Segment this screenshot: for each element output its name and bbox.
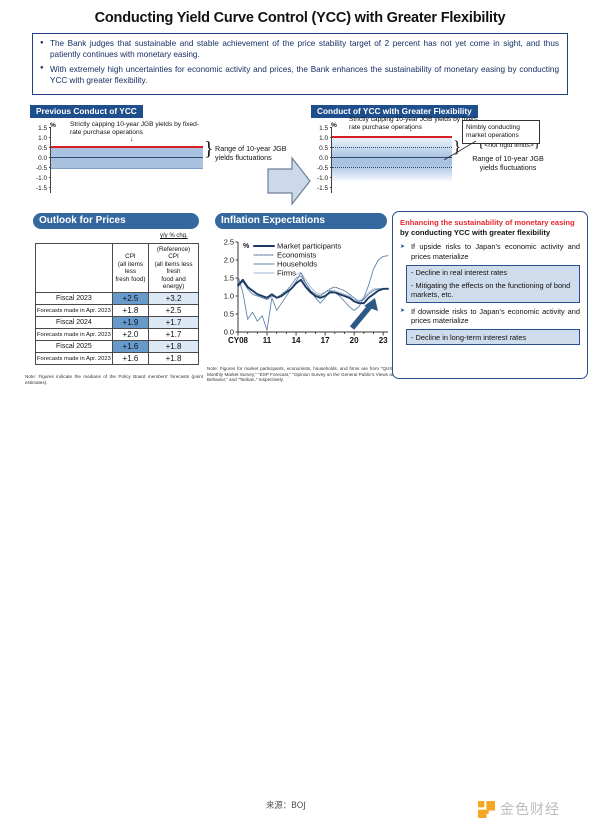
ycc-left-ytick-0.0: 0.0 [30, 155, 47, 162]
cell-ref-fiscal-2023: +3.2 [149, 293, 199, 305]
upside-outcome-box: - Decline in real interest rates - Mitig… [406, 265, 580, 303]
upside-outcome-1: - Decline in real interest rates [411, 268, 575, 277]
footer-bar: 来源：BOJ 金色财经 [0, 396, 600, 433]
ycc-right-zero-line [332, 157, 452, 158]
cell-ref-forecast-2023: +2.5 [149, 305, 199, 317]
ycc-right-ytick-0.5: 0.5 [311, 145, 328, 152]
downside-risk-item: If downside risks to Japan's economic ac… [400, 307, 580, 326]
chart-flexible-ycc: 1.5 1.0 0.5 0.0 -0.5 -1.0 -1.5 % Strictl… [311, 122, 596, 208]
ycc-left-ytick--1.0: -1.0 [30, 175, 47, 182]
summary-bullet-box: The Bank judges that sustainable and sta… [32, 33, 568, 95]
ycc-right-ref-lower-line [332, 167, 452, 168]
downside-outcome-box: - Decline in long-term interest rates [406, 329, 580, 345]
transition-arrow-icon [266, 155, 312, 207]
row-label-fiscal-2023: Fiscal 2023 [36, 293, 113, 305]
table-row: Fiscal 2025 +1.6 +1.8 [36, 341, 199, 353]
inflation-chart-svg: 0.00.51.01.52.02.5CY081114172023%Market … [212, 236, 392, 362]
outlook-unit-note: y/y % chg. [160, 233, 188, 239]
row-label-fiscal-2024: Fiscal 2024 [36, 317, 113, 329]
source-label: 来源：BOJ [266, 799, 306, 811]
ycc-right-ytick-1.0: 1.0 [311, 135, 328, 142]
cell-ref-forecast-2025: +1.8 [149, 353, 199, 365]
policy-implications-panel: Enhancing the sustainability of monetary… [392, 211, 588, 379]
banner-previous-ycc: Previous Conduct of YCC [30, 105, 143, 118]
ycc-left-cap-caption: Strictly capping 10-year JGB yields by f… [70, 121, 200, 138]
table-row: Fiscal 2024 +1.9 +1.7 [36, 317, 199, 329]
col-header-blank [36, 244, 113, 293]
ycc-left-ytick-0.5: 0.5 [30, 145, 47, 152]
ycc-left-ytick--0.5: -0.5 [30, 165, 47, 172]
ycc-right-yield-band [332, 137, 452, 182]
svg-text:1.0: 1.0 [224, 292, 234, 301]
panel-heading: Enhancing the sustainability of monetary… [400, 218, 580, 238]
table-row: Forecasts made in Apr. 2023 +1.6 +1.8 [36, 353, 199, 365]
slide-canvas: Conducting Yield Curve Control (YCC) wit… [0, 0, 600, 396]
cell-ref-fiscal-2025: +1.8 [149, 341, 199, 353]
site-logo: 金色财经 [478, 799, 560, 819]
col-header-cpi-l2: (all items less [118, 261, 143, 275]
banner-outlook-for-prices: Outlook for Prices [33, 213, 199, 229]
svg-text:Economists: Economists [277, 251, 316, 260]
ycc-right-ytick-1.5: 1.5 [311, 125, 328, 132]
jinse-logo-icon [478, 801, 495, 818]
row-label-forecast-2025: Forecasts made in Apr. 2023 [36, 353, 113, 365]
svg-text:1.5: 1.5 [224, 274, 234, 283]
table-row: Fiscal 2023 +2.5 +3.2 [36, 293, 199, 305]
col-header-ref-l1: (Reference) [157, 246, 190, 253]
svg-text:CY08: CY08 [228, 336, 249, 345]
row-label-forecast-2024: Forecasts made in Apr. 2023 [36, 329, 113, 341]
col-header-cpi: CPI (all items less fresh food) [112, 244, 148, 293]
cell-ref-fiscal-2024: +1.7 [149, 317, 199, 329]
summary-bullet-2: With extremely high uncertainties for ec… [40, 64, 559, 87]
ycc-left-cap-arrow: ↓ [130, 136, 134, 143]
cell-ref-forecast-2024: +1.7 [149, 329, 199, 341]
col-header-cpi-l3: fresh food) [115, 276, 145, 283]
svg-text:20: 20 [350, 336, 359, 345]
row-label-forecast-2023: Forecasts made in Apr. 2023 [36, 305, 113, 317]
cell-cpi-fiscal-2025: +1.6 [112, 341, 148, 353]
svg-text:17: 17 [321, 336, 330, 345]
svg-text:Firms: Firms [277, 269, 296, 278]
cell-cpi-forecast-2023: +1.8 [112, 305, 148, 317]
ycc-left-cap-line [51, 146, 203, 148]
page-title: Conducting Yield Curve Control (YCC) wit… [0, 10, 600, 26]
svg-text:%: % [243, 243, 250, 250]
ycc-left-zero-line [51, 157, 203, 158]
panel-heading-rest: by conducting YCC with greater flexibili… [400, 228, 550, 237]
svg-text:2.0: 2.0 [224, 256, 234, 265]
col-header-cpi-ref: (Reference) CPI (all items less fresh fo… [149, 244, 199, 293]
svg-text:14: 14 [292, 336, 301, 345]
svg-text:23: 23 [379, 336, 388, 345]
svg-text:Households: Households [277, 260, 317, 269]
cell-cpi-forecast-2025: +1.6 [112, 353, 148, 365]
col-header-cpi-l1: CPI [125, 253, 136, 260]
ycc-left-ytick--1.5: -1.5 [30, 185, 47, 192]
chart-inflation-expectations: 0.00.51.01.52.02.5CY081114172023%Market … [212, 236, 392, 362]
ycc-left-range-brace: } [204, 139, 214, 159]
outlook-table: CPI (all items less fresh food) (Referen… [35, 243, 199, 365]
col-header-ref-l4: food and energy) [161, 276, 186, 290]
ycc-right-cap-arrow: ↓ [409, 126, 413, 133]
ycc-left-ytick-1.5: 1.5 [30, 125, 47, 132]
row-label-fiscal-2025: Fiscal 2025 [36, 341, 113, 353]
inflation-chart-note: Note: Figures for market participants, e… [207, 366, 397, 383]
ycc-left-ytick-1.0: 1.0 [30, 135, 47, 142]
ycc-right-ref-upper-line [332, 147, 452, 148]
ycc-right-ytick--1.5: -1.5 [311, 185, 328, 192]
ycc-right-ytick--1.0: -1.0 [311, 175, 328, 182]
outlook-table-note: Note: Figures indicate the medians of th… [25, 374, 203, 385]
downside-outcome-1: - Decline in long-term interest rates [411, 333, 575, 342]
callout-leader-line [442, 140, 478, 162]
ycc-left-yield-band [51, 147, 203, 169]
svg-text:2.5: 2.5 [224, 238, 234, 247]
upside-outcome-2: - Mitigating the effects on the function… [411, 281, 575, 300]
panel-heading-red: Enhancing the sustainability of monetary… [400, 218, 575, 227]
ycc-right-ytick-0.0: 0.0 [311, 155, 328, 162]
cell-cpi-fiscal-2023: +2.5 [112, 293, 148, 305]
table-row: Forecasts made in Apr. 2023 +1.8 +2.5 [36, 305, 199, 317]
chart-previous-ycc: 1.5 1.0 0.5 0.0 -0.5 -1.0 -1.5 % Strictl… [30, 122, 265, 208]
ycc-right-ytick--0.5: -0.5 [311, 165, 328, 172]
banner-inflation-expectations: Inflation Expectations [215, 213, 387, 229]
logo-text: 金色财经 [500, 799, 560, 819]
cell-cpi-fiscal-2024: +1.9 [112, 317, 148, 329]
cell-cpi-forecast-2024: +2.0 [112, 329, 148, 341]
col-header-ref-l2: CPI [168, 253, 179, 260]
upside-risk-item: If upside risks to Japan's economic acti… [400, 242, 580, 261]
summary-bullet-1: The Bank judges that sustainable and sta… [40, 38, 559, 61]
col-header-ref-l3: (all items less fresh [154, 261, 192, 275]
ycc-right-plot-area [331, 127, 451, 193]
table-row: Forecasts made in Apr. 2023 +2.0 +1.7 [36, 329, 199, 341]
svg-text:11: 11 [263, 336, 272, 345]
table-header-row: CPI (all items less fresh food) (Referen… [36, 244, 199, 293]
svg-text:0.5: 0.5 [224, 310, 234, 319]
ycc-right-cap-line [332, 136, 452, 138]
svg-text:Market participants: Market participants [277, 242, 341, 251]
